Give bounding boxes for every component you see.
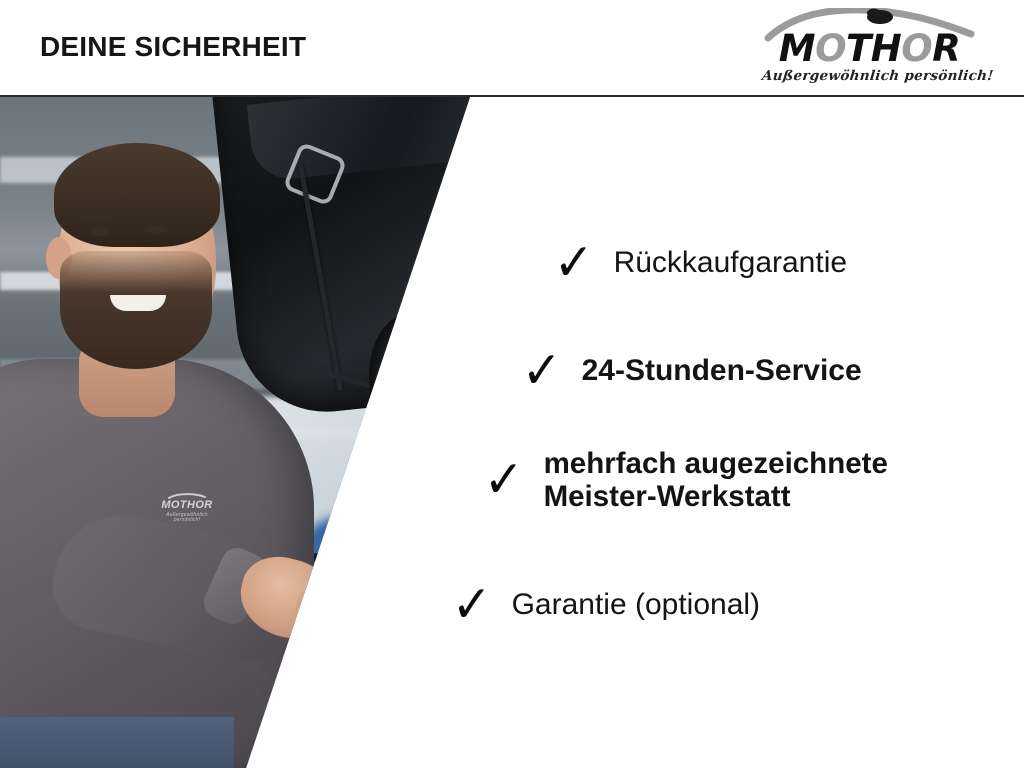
logo-letter-o1: O	[815, 27, 846, 70]
brand-logo: MOTHOR Außergewöhnlich persönlich!	[762, 8, 977, 90]
benefit-label: 24-Stunden-Service	[582, 354, 862, 388]
benefit-label: mehrfach augezeichnete Meister-Werkstatt	[544, 447, 888, 513]
logo-letter-o2: O	[901, 27, 932, 70]
mechanic-jeans	[0, 717, 234, 768]
benefit-item-24-stunden-service: ✓ 24-Stunden-Service	[520, 345, 862, 397]
check-icon: ✓	[484, 454, 524, 506]
check-icon: ✓	[522, 345, 562, 397]
reservoir-cap	[357, 583, 379, 608]
logo-letters-th: TH	[846, 27, 901, 70]
mechanic-figure: MOTHOR Außergewöhnlich persönlich!	[0, 97, 324, 768]
logo-tagline: Außergewöhnlich persönlich!	[761, 70, 977, 84]
washer-fluid-reservoir	[296, 613, 434, 742]
header-bar: DEINE SICHERHEIT MOTHOR Außergewöhnlich …	[0, 0, 1024, 96]
shirt-logo-wordmark: MOTHOR	[154, 500, 220, 511]
logo-wordmark: MOTHOR	[762, 30, 977, 67]
mechanic-eye	[90, 227, 110, 236]
check-icon: ✓	[554, 237, 594, 289]
benefit-item-garantie-optional: ✓ Garantie (optional)	[450, 579, 760, 631]
shirt-logo-arc-icon	[167, 492, 207, 499]
page-title: DEINE SICHERHEIT	[40, 33, 306, 61]
logo-letter-m: M	[779, 27, 815, 70]
logo-letter-r: R	[932, 27, 960, 70]
reservoir-cap	[334, 600, 392, 630]
benefits-list: ✓ Rückkaufgarantie ✓ 24-Stunden-Service …	[440, 97, 1024, 768]
slide-root: DEINE SICHERHEIT MOTHOR Außergewöhnlich …	[0, 0, 1024, 768]
mechanic-hair	[54, 143, 220, 247]
benefit-item-meister-werkstatt: ✓ mehrfach augezeichnete Meister-Werksta…	[482, 447, 888, 513]
shirt-logo: MOTHOR Außergewöhnlich persönlich!	[154, 492, 220, 520]
benefit-label: Garantie (optional)	[512, 588, 760, 622]
check-icon: ✓	[452, 579, 492, 631]
benefit-label: Rückkaufgarantie	[614, 246, 847, 280]
benefit-item-rueckkaufgarantie: ✓ Rückkaufgarantie	[552, 237, 847, 289]
mechanic-eye	[146, 225, 166, 234]
mechanic-smile	[110, 295, 166, 311]
